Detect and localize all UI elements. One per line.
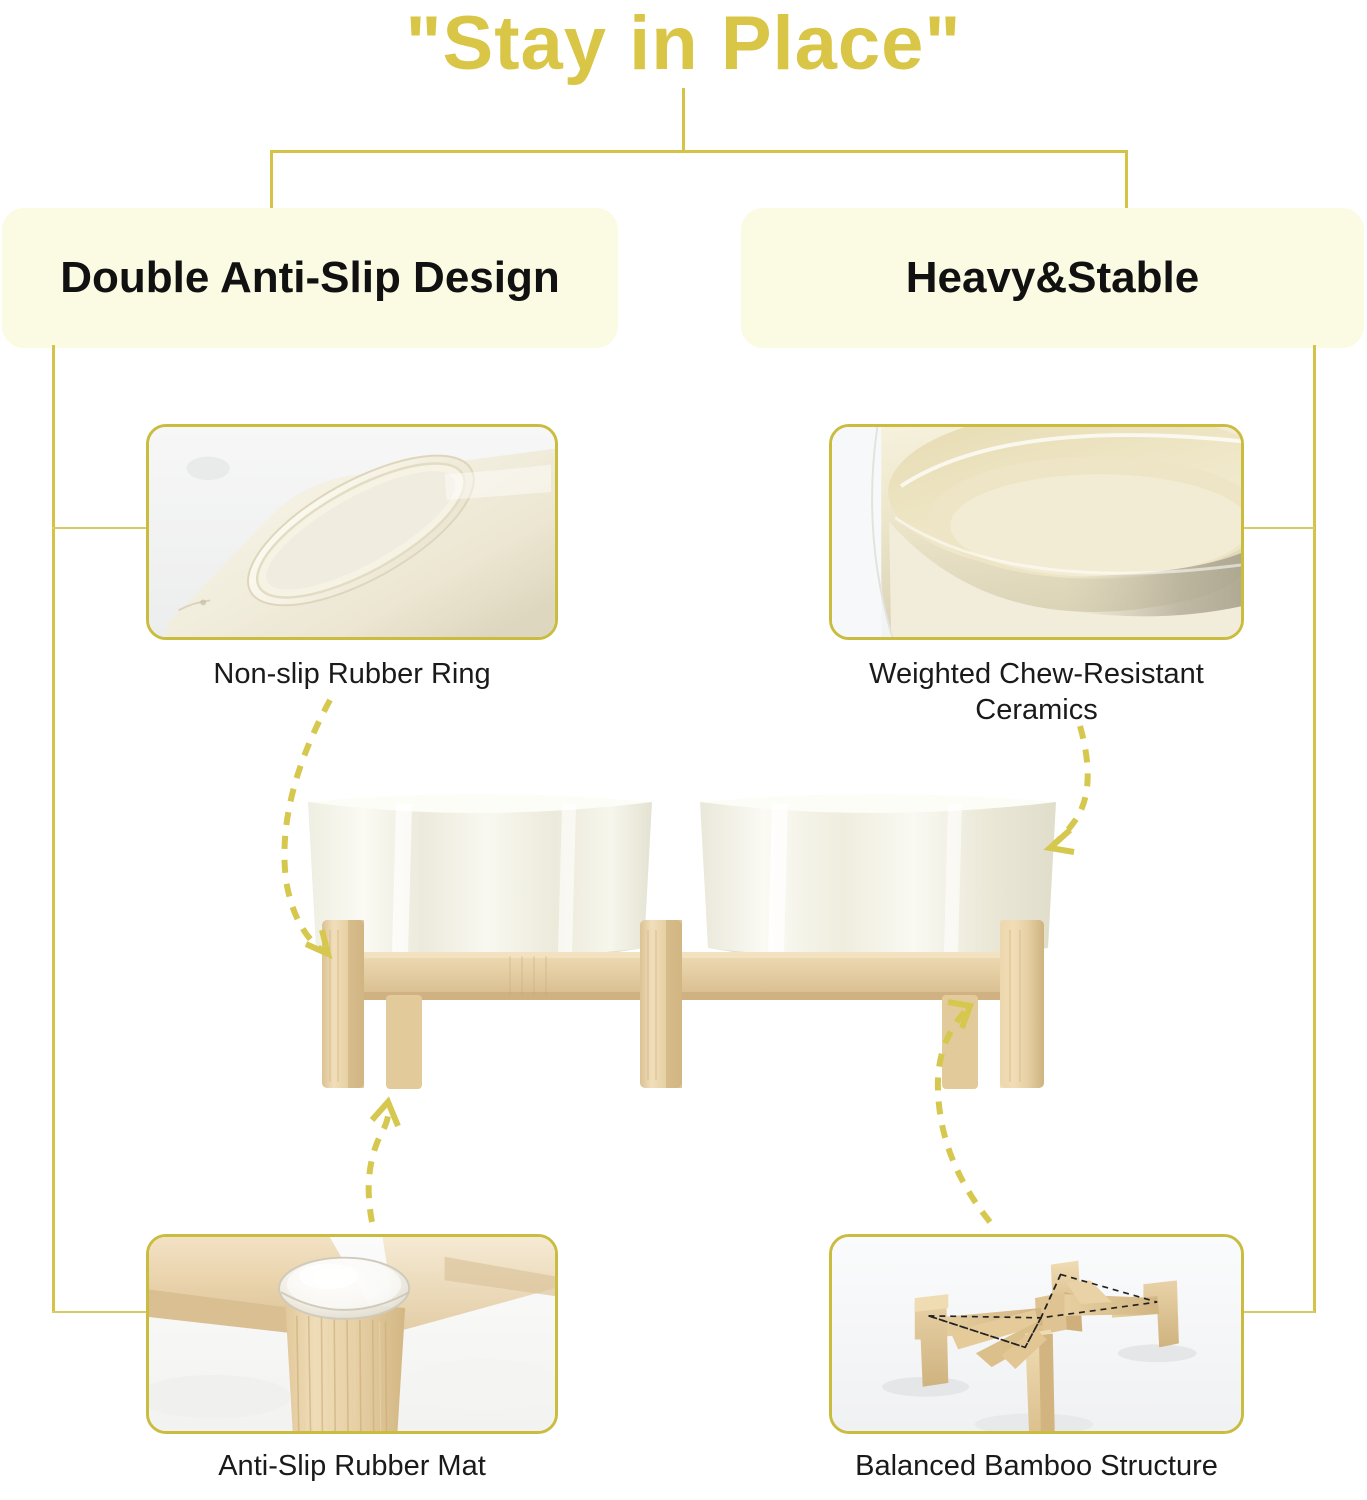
caption-balanced-bamboo: Balanced Bamboo Structure	[829, 1448, 1244, 1484]
branch-left-top	[52, 527, 150, 529]
bracket-crossbar	[270, 150, 1128, 153]
bamboo-leg-with-clear-rubber-pad-icon	[149, 1237, 555, 1434]
stand-leg-inner-left	[386, 995, 422, 1089]
header-left-label: Double Anti-Slip Design	[60, 253, 559, 303]
spine-right	[1313, 345, 1316, 1313]
bracket-drop-right	[1125, 150, 1128, 210]
bracket-stem-top	[682, 88, 685, 152]
stand-leg-right	[1000, 920, 1044, 1088]
stand-center-post	[640, 920, 682, 1088]
branch-right-top	[1240, 527, 1315, 529]
arrow-to-rubber-mat-path	[369, 1106, 389, 1222]
ceramic-bowl-underside-with-rubber-ring-icon	[149, 427, 555, 640]
header-pill-left: Double Anti-Slip Design	[2, 208, 618, 348]
hero-product-photo	[300, 780, 1080, 1120]
bracket-drop-left	[270, 150, 273, 210]
stand-leg-inner-right	[942, 995, 978, 1089]
ceramic-bowl-interior-closeup-icon	[832, 427, 1241, 640]
caption-non-slip-rubber-ring: Non-slip Rubber Ring	[146, 656, 558, 692]
photo-weighted-ceramics	[829, 424, 1244, 640]
header-pill-right: Heavy&Stable	[741, 208, 1364, 348]
caption-anti-slip-rubber-mat: Anti-Slip Rubber Mat	[146, 1448, 558, 1484]
photo-non-slip-rubber-ring	[146, 424, 558, 640]
elevated-double-bowl-pet-feeder-icon	[300, 780, 1080, 1120]
infographic-root: "Stay in Place" Double Anti-Slip Design …	[0, 0, 1367, 1500]
photo-balanced-bamboo	[829, 1234, 1244, 1434]
branch-left-bottom	[52, 1311, 150, 1313]
header-right-label: Heavy&Stable	[906, 253, 1199, 303]
photo-anti-slip-rubber-mat	[146, 1234, 558, 1434]
page-title: "Stay in Place"	[0, 0, 1367, 94]
caption-weighted-ceramics: Weighted Chew-Resistant Ceramics	[809, 656, 1264, 728]
bamboo-stand-triangulated-structure-icon	[832, 1237, 1241, 1434]
branch-right-bottom	[1240, 1311, 1315, 1313]
stand-leg-left	[322, 920, 364, 1088]
spine-left	[52, 345, 55, 1313]
